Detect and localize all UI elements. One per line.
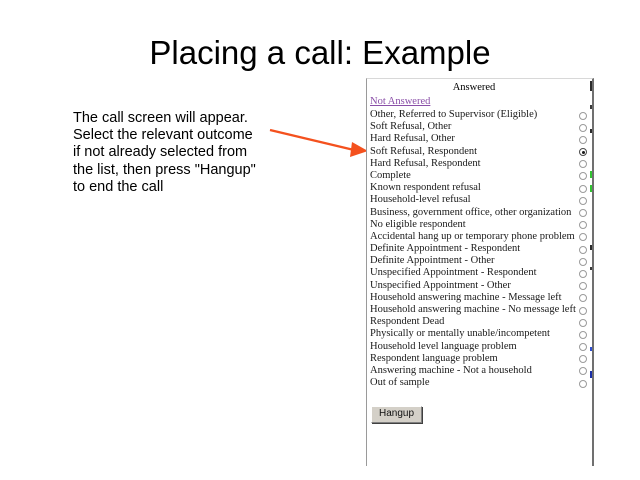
scroll-edge-mark xyxy=(590,129,593,133)
outcome-radio[interactable] xyxy=(579,233,587,241)
outcome-label: Definite Appointment - Respondent xyxy=(370,243,520,255)
outcome-row[interactable]: Business, government office, other organ… xyxy=(367,207,593,219)
outcome-radio[interactable] xyxy=(579,221,587,229)
outcome-label: Out of sample xyxy=(370,377,430,389)
outcome-row[interactable]: Other, Referred to Supervisor (Eligible) xyxy=(367,109,593,121)
outcome-list: Other, Referred to Supervisor (Eligible)… xyxy=(367,109,593,389)
answered-header: Answered xyxy=(367,82,581,93)
outcome-label: Physically or mentally unable/incompeten… xyxy=(370,328,550,340)
scroll-edge-mark xyxy=(590,347,593,351)
callout-line: Select the relevant outcome xyxy=(73,127,278,144)
outcome-radio[interactable] xyxy=(579,319,587,327)
outcome-radio[interactable] xyxy=(579,343,587,351)
outcome-radio[interactable] xyxy=(579,367,587,375)
scroll-edge-mark xyxy=(590,81,593,91)
outcome-radio[interactable] xyxy=(579,136,587,144)
scroll-edge-mark xyxy=(590,171,593,178)
outcome-row[interactable]: Respondent Dead xyxy=(367,316,593,328)
outcome-radio[interactable] xyxy=(579,282,587,290)
outcome-label: Household-level refusal xyxy=(370,194,471,206)
outcome-radio[interactable] xyxy=(579,307,587,315)
outcome-row[interactable]: Soft Refusal, Respondent xyxy=(367,146,593,158)
outcome-row[interactable]: No eligible respondent xyxy=(367,219,593,231)
outcome-row[interactable]: Complete xyxy=(367,170,593,182)
outcome-label: Household answering machine - Message le… xyxy=(370,292,562,304)
outcome-label: Unspecified Appointment - Other xyxy=(370,280,511,292)
scroll-edge-mark xyxy=(590,105,593,109)
outcome-row[interactable]: Household answering machine - Message le… xyxy=(367,292,593,304)
callout-text: The call screen will appear. Select the … xyxy=(73,110,278,196)
callout-line: if not already selected from xyxy=(73,144,278,161)
outcome-label: Respondent language problem xyxy=(370,353,498,365)
outcome-radio[interactable] xyxy=(579,185,587,193)
outcome-row[interactable]: Household-level refusal xyxy=(367,194,593,206)
outcome-row[interactable]: Answering machine - Not a household xyxy=(367,365,593,377)
hangup-button[interactable]: Hangup xyxy=(371,406,422,423)
outcome-row[interactable]: Accidental hang up or temporary phone pr… xyxy=(367,231,593,243)
outcome-label: Business, government office, other organ… xyxy=(370,207,571,219)
outcome-row[interactable]: Household answering machine - No message… xyxy=(367,304,593,316)
outcome-label: Soft Refusal, Respondent xyxy=(370,146,477,158)
callout-line: to end the call xyxy=(73,179,278,196)
outcome-radio[interactable] xyxy=(579,148,587,156)
outcome-label: Other, Referred to Supervisor (Eligible) xyxy=(370,109,537,121)
outcome-radio[interactable] xyxy=(579,258,587,266)
outcome-label: Answering machine - Not a household xyxy=(370,365,532,377)
outcome-label: No eligible respondent xyxy=(370,219,466,231)
outcome-radio[interactable] xyxy=(579,246,587,254)
outcome-radio[interactable] xyxy=(579,124,587,132)
outcome-row[interactable]: Out of sample xyxy=(367,377,593,389)
scroll-edge-mark xyxy=(590,371,593,378)
outcome-row[interactable]: Unspecified Appointment - Other xyxy=(367,280,593,292)
outcome-label: Unspecified Appointment - Respondent xyxy=(370,267,537,279)
outcome-label: Complete xyxy=(370,170,411,182)
outcome-radio[interactable] xyxy=(579,172,587,180)
call-screen-panel: Answered Not Answered Other, Referred to… xyxy=(366,78,594,466)
outcome-label: Respondent Dead xyxy=(370,316,444,328)
outcome-label: Household answering machine - No message… xyxy=(370,304,576,316)
outcome-label: Soft Refusal, Other xyxy=(370,121,451,133)
outcome-radio[interactable] xyxy=(579,380,587,388)
outcome-row[interactable]: Physically or mentally unable/incompeten… xyxy=(367,328,593,340)
outcome-row[interactable]: Respondent language problem xyxy=(367,353,593,365)
callout-line: The call screen will appear. xyxy=(73,110,278,127)
outcome-radio[interactable] xyxy=(579,331,587,339)
outcome-row[interactable]: Definite Appointment - Other xyxy=(367,255,593,267)
arrow-annotation-icon xyxy=(268,118,378,168)
outcome-radio[interactable] xyxy=(579,160,587,168)
outcome-row[interactable]: Hard Refusal, Respondent xyxy=(367,158,593,170)
outcome-label: Household level language problem xyxy=(370,341,517,353)
outcome-radio[interactable] xyxy=(579,112,587,120)
outcome-radio[interactable] xyxy=(579,209,587,217)
outcome-radio[interactable] xyxy=(579,355,587,363)
scroll-edge-mark xyxy=(590,245,593,250)
page-title: Placing a call: Example xyxy=(0,34,640,72)
outcome-radio[interactable] xyxy=(579,197,587,205)
outcome-label: Hard Refusal, Other xyxy=(370,133,455,145)
outcome-row[interactable]: Household level language problem xyxy=(367,341,593,353)
callout-line: the list, then press "Hangup" xyxy=(73,162,278,179)
outcome-row[interactable]: Soft Refusal, Other xyxy=(367,121,593,133)
outcome-row[interactable]: Unspecified Appointment - Respondent xyxy=(367,267,593,279)
outcome-radio[interactable] xyxy=(579,270,587,278)
outcome-radio[interactable] xyxy=(579,294,587,302)
outcome-row[interactable]: Known respondent refusal xyxy=(367,182,593,194)
outcome-label: Definite Appointment - Other xyxy=(370,255,495,267)
scroll-edge-mark xyxy=(590,267,593,270)
outcome-label: Accidental hang up or temporary phone pr… xyxy=(370,231,575,243)
outcome-row[interactable]: Hard Refusal, Other xyxy=(367,133,593,145)
outcome-row[interactable]: Definite Appointment - Respondent xyxy=(367,243,593,255)
not-answered-link[interactable]: Not Answered xyxy=(370,96,430,107)
outcome-label: Known respondent refusal xyxy=(370,182,481,194)
scroll-edge-mark xyxy=(590,185,593,192)
outcome-label: Hard Refusal, Respondent xyxy=(370,158,481,170)
